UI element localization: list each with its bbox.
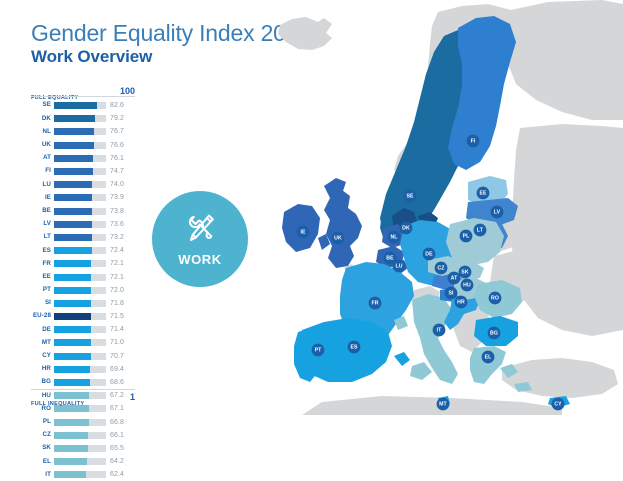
bar-fill (54, 353, 91, 360)
bar-value-label: 82.6 (106, 102, 124, 109)
bar-country-code: NL (31, 129, 54, 135)
bar-fill (54, 274, 91, 281)
bar-row: SI71.8 (31, 297, 135, 310)
bar-track (54, 274, 106, 281)
bar-country-code: UK (31, 142, 54, 148)
scale-bottom-label: FULL INEQUALITY (31, 401, 84, 407)
map-label-text: IT (437, 327, 443, 333)
bar-row: HR69.4 (31, 363, 135, 376)
map-label-cy: CY (552, 398, 565, 411)
bar-value-label: 69.4 (106, 366, 124, 373)
map-label-dk: DK (400, 222, 413, 235)
wrench-pencil-icon (180, 209, 220, 249)
map-label-text: UK (334, 235, 342, 241)
map-label-text: PL (463, 233, 471, 239)
map-label-text: RO (491, 295, 499, 301)
bar-track (54, 458, 106, 465)
map-label-fi: FI (467, 135, 480, 148)
bar-fill (54, 155, 93, 162)
bar-fill (54, 102, 97, 109)
bar-country-code: PL (31, 419, 54, 425)
bar-fill (54, 142, 94, 149)
map-label-si: SI (445, 287, 458, 300)
bar-country-code: SE (31, 102, 54, 108)
bar-country-code: SI (31, 300, 54, 306)
bar-country-code: PT (31, 287, 54, 293)
bar-fill (54, 128, 94, 135)
bar-track (54, 208, 106, 215)
bar-value-label: 71.8 (106, 300, 124, 307)
bar-country-code: IE (31, 195, 54, 201)
bar-value-label: 73.2 (106, 234, 124, 241)
bar-track (54, 353, 106, 360)
map-label-text: SI (448, 290, 454, 296)
bar-fill (54, 379, 90, 386)
map-label-el: EL (482, 351, 495, 364)
map-label-text: FR (371, 300, 378, 306)
bar-country-code: DK (31, 116, 54, 122)
bar-track (54, 155, 106, 162)
map-label-text: HR (457, 299, 465, 305)
bar-track (54, 300, 106, 307)
bar-fill (54, 419, 89, 426)
bar-fill (54, 471, 86, 478)
bar-row: IT62.4 (31, 468, 135, 481)
bar-value-label: 72.1 (106, 274, 124, 281)
bar-value-label: 62.4 (106, 471, 124, 478)
bar-track (54, 260, 106, 267)
bar-country-code: EL (31, 459, 54, 465)
map-label-text: CY (554, 401, 562, 407)
bar-track (54, 128, 106, 135)
bar-track (54, 445, 106, 452)
bar-row: EE72.1 (31, 270, 135, 283)
map-label-text: DK (402, 225, 410, 231)
bar-row: SE82.6 (31, 99, 135, 112)
bar-row: MT71.0 (31, 336, 135, 349)
bar-fill (54, 194, 92, 201)
map-country-es[interactable] (394, 352, 410, 366)
scale-top-value: 100 (120, 86, 135, 96)
bar-row: LU74.0 (31, 178, 135, 191)
bar-row: EL64.2 (31, 455, 135, 468)
bar-row: IE73.9 (31, 191, 135, 204)
map-label-pl: PL (460, 230, 473, 243)
bar-value-label: 79.2 (106, 115, 124, 122)
bar-country-code: BE (31, 208, 54, 214)
bar-fill (54, 115, 95, 122)
bar-fill (54, 208, 92, 215)
bar-country-code: BG (31, 379, 54, 385)
bar-value-label: 66.1 (106, 432, 124, 439)
map-label-uk: UK (332, 232, 345, 245)
bar-fill (54, 287, 91, 294)
infographic-root: Gender Equality Index 2017 Work Overview… (0, 0, 623, 415)
map-label-mt: MT (437, 398, 450, 411)
bar-fill (54, 326, 91, 333)
bar-track (54, 419, 106, 426)
bar-row: DK79.2 (31, 112, 135, 125)
bar-value-label: 65.5 (106, 445, 124, 452)
bar-track (54, 339, 106, 346)
map-label-fr: FR (369, 297, 382, 310)
map-label-text: FI (471, 138, 476, 144)
map-label-se: SE (404, 190, 417, 203)
bar-value-label: 72.1 (106, 260, 124, 267)
bar-track (54, 432, 106, 439)
map-country-uk[interactable] (324, 190, 362, 268)
bar-country-code: HR (31, 366, 54, 372)
map-label-text: HU (463, 282, 471, 288)
map-label-text: EL (485, 354, 493, 360)
map-label-text: LT (477, 227, 484, 233)
bar-row: CY70.7 (31, 350, 135, 363)
map-label-ro: RO (489, 292, 502, 305)
bar-track (54, 471, 106, 478)
bar-value-label: 72.4 (106, 247, 124, 254)
bar-country-code: SK (31, 445, 54, 451)
bar-value-label: 68.6 (106, 379, 124, 386)
bar-row: FR72.1 (31, 257, 135, 270)
map-label-text: DE (425, 251, 433, 257)
bar-track (54, 221, 106, 228)
bar-row: FI74.7 (31, 165, 135, 178)
bar-row: BG68.6 (31, 376, 135, 389)
bar-country-code: FR (31, 261, 54, 267)
bar-track (54, 168, 106, 175)
bar-fill (54, 432, 88, 439)
map-label-hu: HU (461, 279, 474, 292)
map-label-text: IE (300, 229, 306, 235)
bar-fill (54, 300, 91, 307)
map-label-sk: SK (459, 266, 472, 279)
bar-value-label: 76.6 (106, 142, 124, 149)
map-label-pt: PT (312, 344, 325, 357)
map-label-hr: HR (455, 296, 468, 309)
map-label-text: SK (461, 269, 469, 275)
bar-value-label: 74.7 (106, 168, 124, 175)
map-label-lv: LV (491, 206, 504, 219)
map-label-bg: BG (488, 327, 501, 340)
bar-fill (54, 168, 93, 175)
bar-value-label: 73.9 (106, 194, 124, 201)
map-label-text: EE (479, 190, 487, 196)
bar-row: LV73.6 (31, 218, 135, 231)
map-label-text: PT (315, 347, 323, 353)
bar-row: PT72.0 (31, 284, 135, 297)
bar-country-code: DE (31, 327, 54, 333)
bar-fill (54, 445, 88, 452)
bar-track (54, 247, 106, 254)
bar-value-label: 71.0 (106, 339, 124, 346)
map-country-it[interactable] (410, 362, 432, 380)
bar-fill (54, 366, 90, 373)
map-label-text: MT (439, 401, 447, 407)
bar-value-label: 66.8 (106, 419, 124, 426)
bar-track (54, 366, 106, 373)
bar-track (54, 115, 106, 122)
bar-fill (54, 313, 91, 320)
bar-row: DE71.4 (31, 323, 135, 336)
bar-value-label: 74.0 (106, 181, 124, 188)
map-label-cz: CZ (435, 262, 448, 275)
map-label-at: AT (448, 272, 461, 285)
bar-fill (54, 339, 91, 346)
scale-bottom: FULL INEQUALITY 1 (31, 392, 135, 410)
bar-fill (54, 247, 92, 254)
map-label-text: ES (350, 344, 358, 350)
bar-row: AT76.1 (31, 152, 135, 165)
bar-track (54, 102, 106, 109)
bar-track (54, 287, 106, 294)
map-label-text: LV (494, 209, 501, 215)
bar-track (54, 379, 106, 386)
bar-value-label: 76.7 (106, 128, 124, 135)
bar-value-label: 70.7 (106, 353, 124, 360)
map-label-lt: LT (474, 224, 487, 237)
bar-country-code: FI (31, 168, 54, 174)
bar-value-label: 64.2 (106, 458, 124, 465)
bar-fill (54, 260, 91, 267)
bar-country-code: AT (31, 155, 54, 161)
map-label-nl: NL (388, 231, 401, 244)
bar-track (54, 181, 106, 188)
map-label-text: AT (451, 275, 458, 281)
bar-track (54, 313, 106, 320)
bar-value-label: 72.0 (106, 287, 124, 294)
bar-track (54, 194, 106, 201)
bar-row: SK65.5 (31, 442, 135, 455)
bar-country-code: EE (31, 274, 54, 280)
bar-row: UK76.6 (31, 139, 135, 152)
map-label-text: SE (406, 193, 414, 199)
map-label-text: BE (386, 255, 394, 261)
bar-country-code: MT (31, 340, 54, 346)
bar-country-code: IT (31, 472, 54, 478)
bar-row: EU-2871.5 (31, 310, 135, 323)
bar-value-label: 76.1 (106, 155, 124, 162)
scale-bottom-value: 1 (130, 392, 135, 402)
map-label-de: DE (423, 248, 436, 261)
bar-value-label: 73.6 (106, 221, 124, 228)
bar-country-code: CY (31, 353, 54, 359)
bar-country-code: LT (31, 234, 54, 240)
bar-row: LT73.2 (31, 231, 135, 244)
work-badge-label: WORK (178, 252, 222, 267)
bar-value-label: 71.4 (106, 326, 124, 333)
bar-country-code: EU-28 (31, 313, 54, 319)
bar-fill (54, 181, 92, 188)
map-label-text: LU (395, 263, 402, 269)
bar-fill (54, 221, 92, 228)
bar-row: BE73.8 (31, 205, 135, 218)
bar-country-code: LU (31, 182, 54, 188)
bar-track (54, 326, 106, 333)
bar-track (54, 142, 106, 149)
map-label-ee: EE (477, 187, 490, 200)
bar-fill (54, 234, 92, 241)
bar-row: NL76.7 (31, 125, 135, 138)
map-label-lu: LU (393, 260, 406, 273)
bar-row: ES72.4 (31, 244, 135, 257)
bar-country-code: LV (31, 221, 54, 227)
bar-row: PL66.8 (31, 416, 135, 429)
work-domain-badge: WORK (152, 191, 248, 287)
bar-value-label: 73.8 (106, 208, 124, 215)
bar-country-code: ES (31, 248, 54, 254)
map-label-text: CZ (437, 265, 445, 271)
bar-row: CZ66.1 (31, 429, 135, 442)
bar-value-label: 71.5 (106, 313, 124, 320)
bar-country-code: CZ (31, 432, 54, 438)
europe-choropleth-map: SEDKFIEELVLTIEUKNLBELUDEFRPTESITMTATSIHR… (262, 0, 623, 415)
country-bar-list: SE82.6DK79.2NL76.7UK76.6AT76.1FI74.7LU74… (31, 99, 135, 481)
map-label-text: NL (390, 234, 398, 240)
scale-top-rule (31, 96, 135, 97)
map-label-ie: IE (297, 226, 310, 239)
scale-bottom-rule (31, 389, 135, 390)
bar-track (54, 234, 106, 241)
map-label-it: IT (433, 324, 446, 337)
map-label-text: BG (490, 330, 498, 336)
map-label-es: ES (348, 341, 361, 354)
bar-fill (54, 458, 87, 465)
